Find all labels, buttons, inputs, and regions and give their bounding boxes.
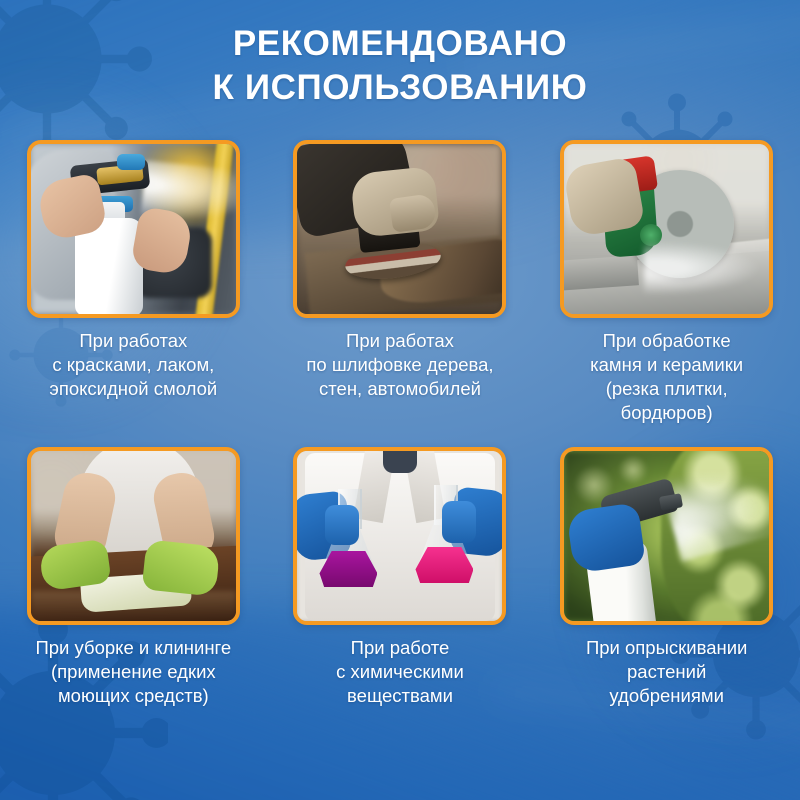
image-card	[560, 447, 773, 625]
image-card	[293, 140, 506, 318]
use-case-item-spraying: При опрыскивании растений удобрениями	[533, 447, 800, 708]
use-case-caption: При уборке и клининге (применение едких …	[9, 636, 257, 708]
image-card	[27, 140, 240, 318]
use-case-item-paints: При работах с красками, лаком, эпоксидно…	[0, 140, 267, 425]
use-case-caption: При работе с химическими веществами	[276, 636, 524, 708]
use-case-item-chemicals: При работе с химическими веществами	[267, 447, 534, 708]
lab-flasks-photo	[297, 451, 502, 621]
use-case-item-stone: При обработке камня и керамики (резка пл…	[533, 140, 800, 425]
use-case-grid: При работах с красками, лаком, эпоксидно…	[0, 140, 800, 708]
angle-grinder-photo	[564, 144, 769, 314]
image-card	[293, 447, 506, 625]
page-title: РЕКОМЕНДОВАНО К ИСПОЛЬЗОВАНИЮ	[0, 22, 800, 110]
title-line-2: К ИСПОЛЬЗОВАНИЮ	[0, 66, 800, 110]
use-case-caption: При опрыскивании растений удобрениями	[543, 636, 791, 708]
foam-sprayer-photo	[31, 144, 236, 314]
use-case-item-sanding: При работах по шлифовке дерева, стен, ав…	[267, 140, 534, 425]
poster-canvas: РЕКОМЕНДОВАНО К ИСПОЛЬЗОВАНИЮ	[0, 0, 800, 800]
image-card	[560, 140, 773, 318]
use-case-caption: При работах с красками, лаком, эпоксидно…	[9, 329, 257, 401]
title-line-1: РЕКОМЕНДОВАНО	[0, 22, 800, 66]
plant-spraying-photo	[564, 451, 769, 621]
orbital-sander-photo	[297, 144, 502, 314]
image-card	[27, 447, 240, 625]
use-case-caption: При работах по шлифовке дерева, стен, ав…	[276, 329, 524, 401]
cleaning-gloves-photo	[31, 451, 236, 621]
use-case-item-cleaning: При уборке и клининге (применение едких …	[0, 447, 267, 708]
use-case-caption: При обработке камня и керамики (резка пл…	[543, 329, 791, 425]
